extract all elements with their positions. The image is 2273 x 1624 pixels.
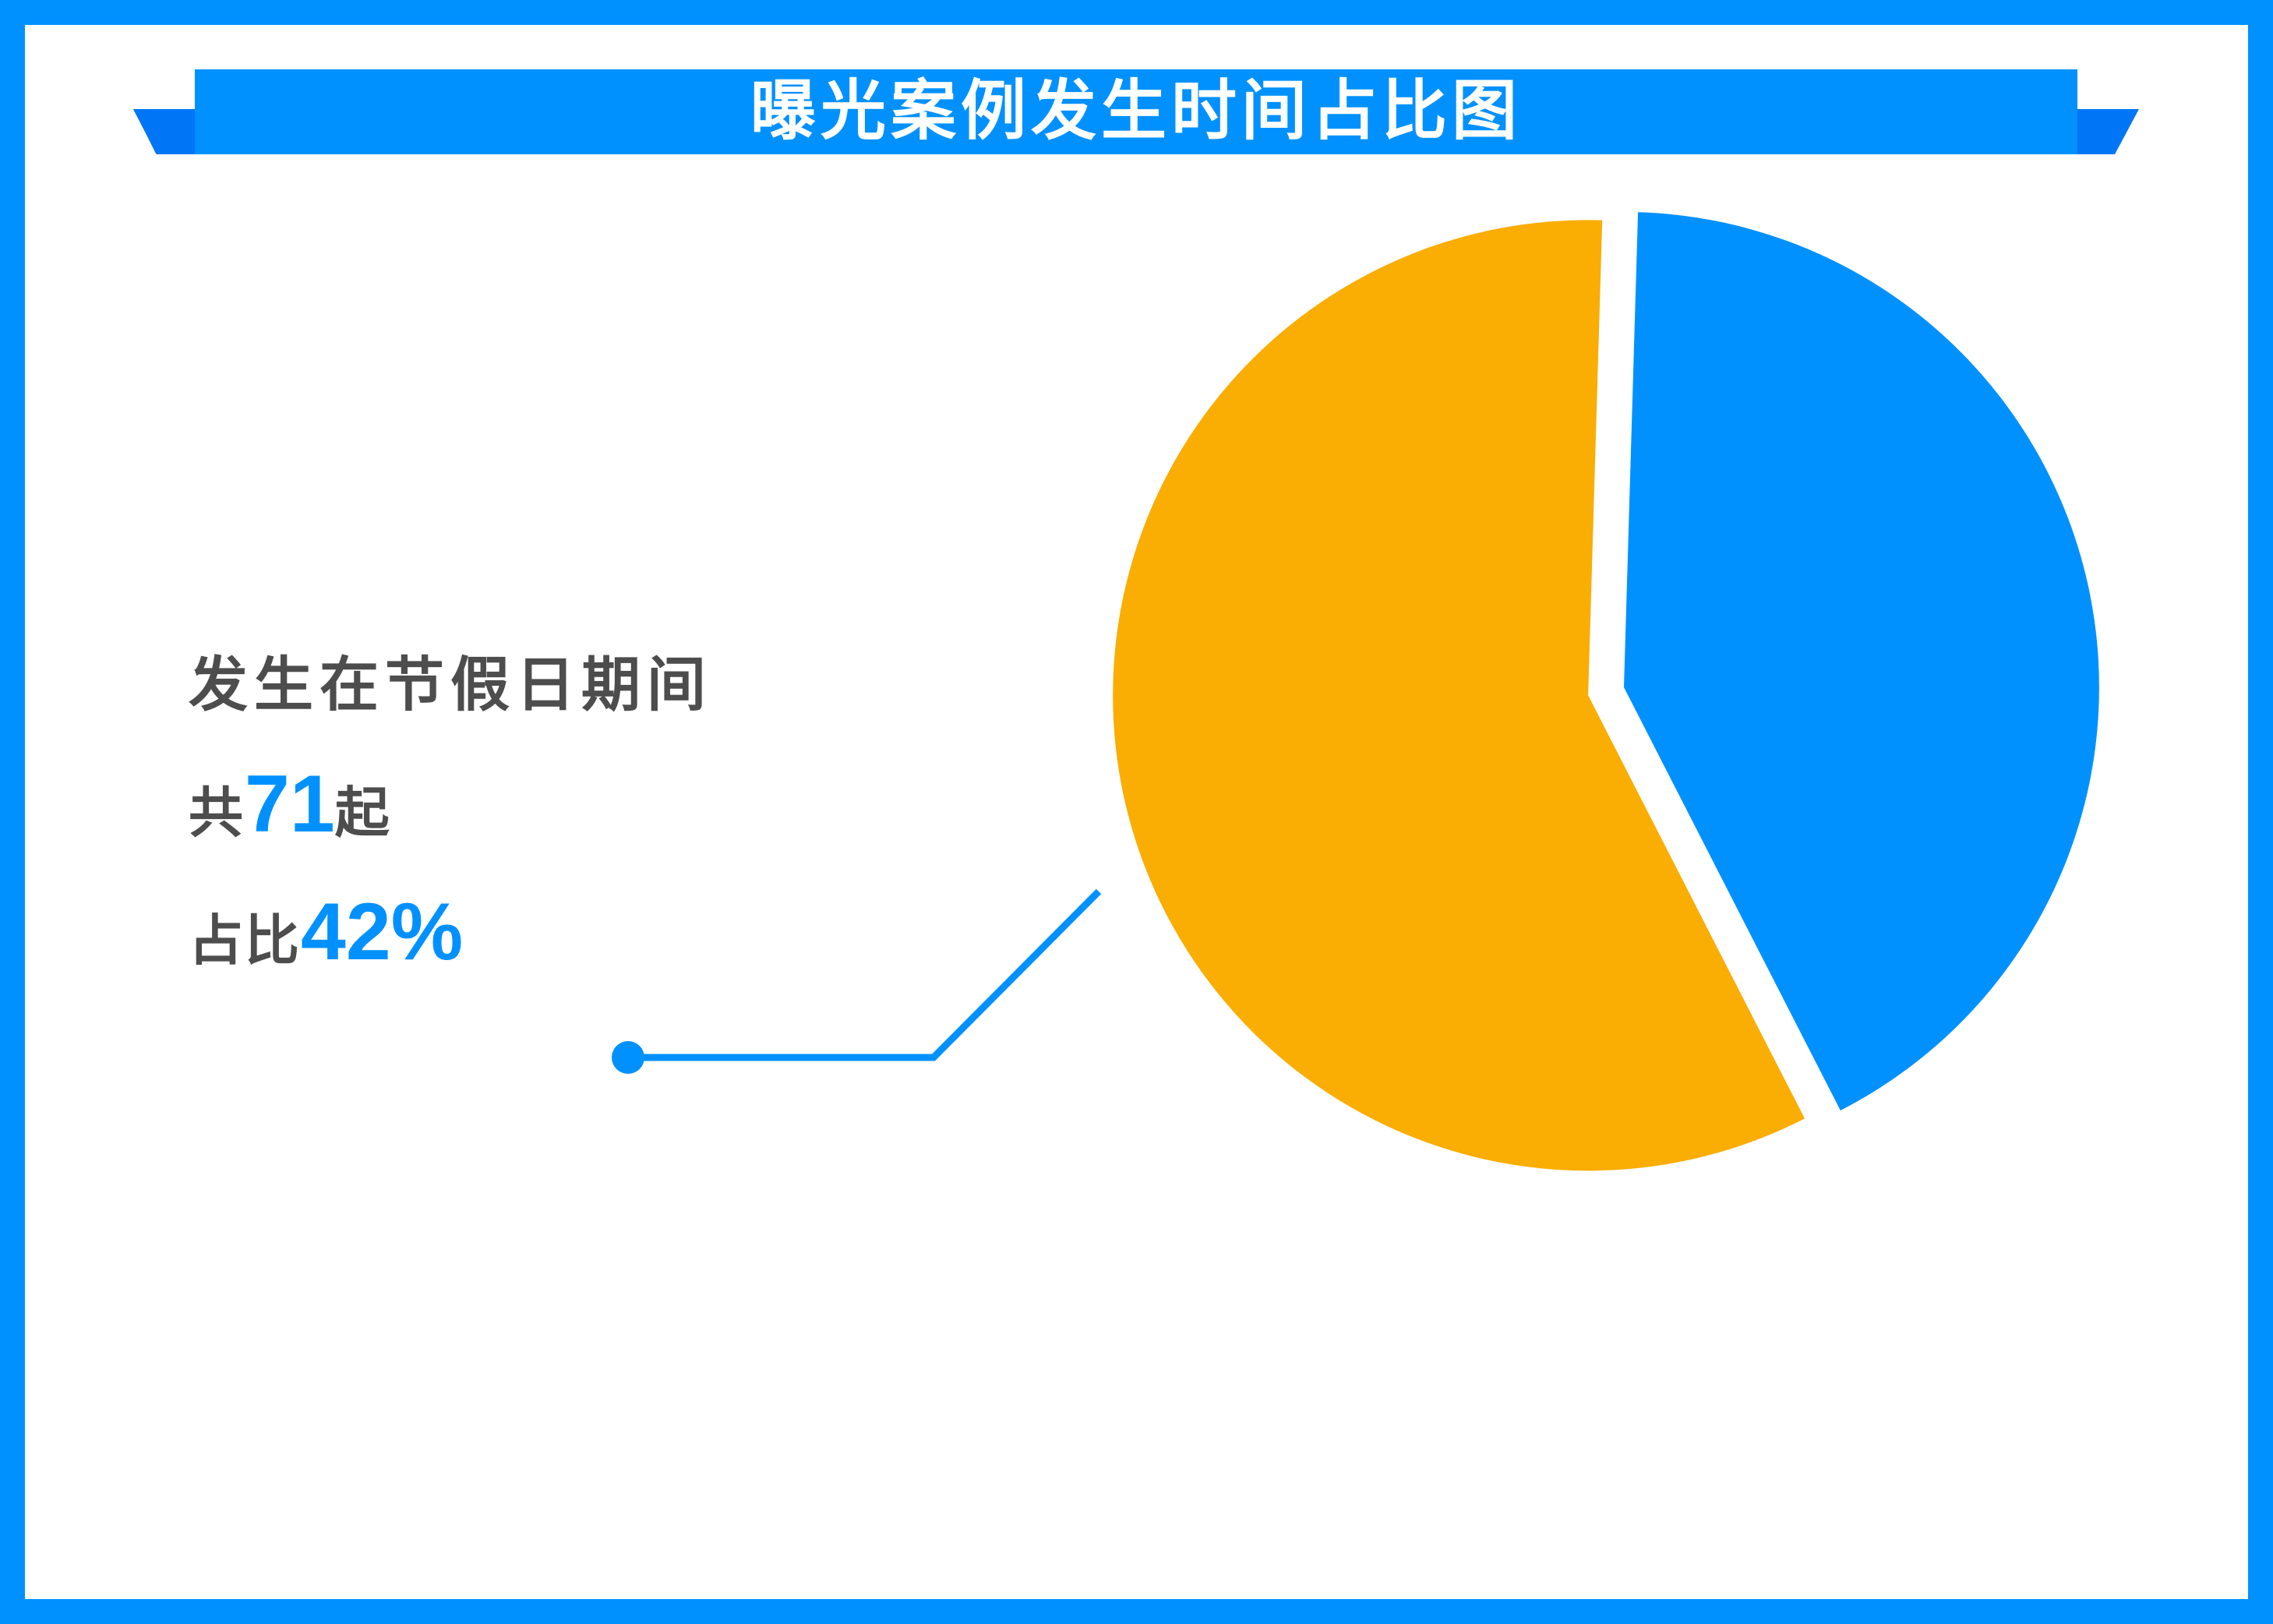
ribbon-tail-right [2077,109,2139,154]
ribbon-main-bar [195,69,2077,154]
page-title: 曝光案例发生时间占比图 [195,69,2077,152]
info-share-line: 占比42% [189,891,921,973]
info-count-line: 共71起 [189,764,921,845]
info-share-value: 42 [301,891,391,973]
pie-chart [1100,173,2191,1264]
infographic-canvas: 曝光案例发生时间占比图 发生在节假日期间 共71起 占比42% [25,25,2248,1599]
ribbon-left-tail-shape [134,109,198,154]
ribbon-tail-left [133,109,195,154]
info-count-unit: 起 [335,786,391,840]
callout-info-block: 发生在节假日期间 共71起 占比42% [189,656,921,973]
infographic-page: 曝光案例发生时间占比图 发生在节假日期间 共71起 占比42% [0,0,2273,1624]
info-count-prefix: 共 [189,786,245,840]
callout-dot-icon [612,1041,644,1074]
info-share-prefix: 占比 [189,913,301,968]
info-share-unit: % [391,891,463,973]
info-context-label: 发生在节假日期间 [189,656,921,715]
info-count-value: 71 [245,764,335,845]
ribbon-left-tail [134,109,195,154]
